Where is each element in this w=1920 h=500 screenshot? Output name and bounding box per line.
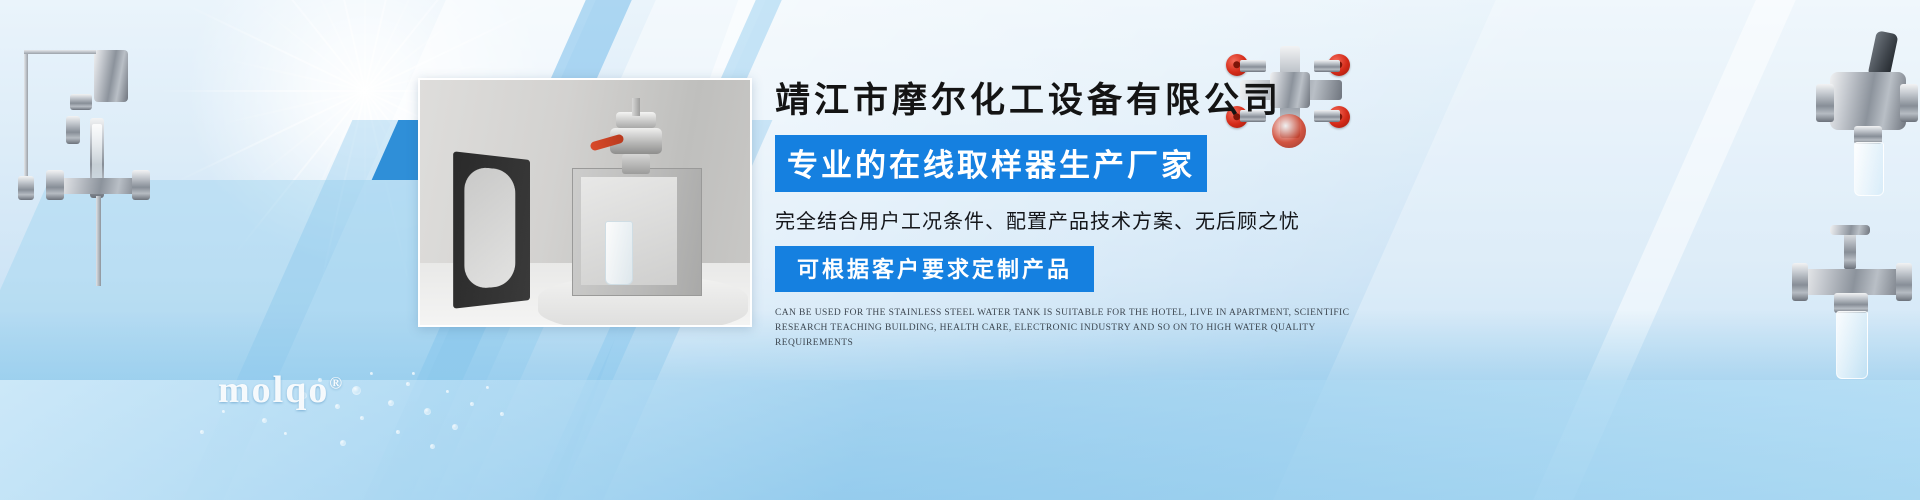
valve-top-handle: [1830, 225, 1870, 235]
description-text: 完全结合用户工况条件、配置产品技术方案、无后顾之忧: [775, 205, 1415, 234]
valve-main-body: [1830, 72, 1906, 130]
watermark-logo: molqo®: [218, 368, 344, 412]
product-banner: 靖江市摩尔化工设备有限公司 专业的在线取样器生产厂家 完全结合用户工况条件、配置…: [0, 0, 1920, 500]
water-droplet: [284, 432, 287, 435]
water-droplet: [200, 430, 204, 434]
support-valve: [18, 176, 34, 200]
support-pipe-top: [24, 50, 96, 54]
valve-port-left: [1816, 84, 1834, 122]
sampler-fitting-a: [70, 94, 92, 110]
sight-glass: [92, 124, 102, 186]
water-droplet: [412, 372, 415, 375]
water-droplet: [360, 416, 364, 420]
water-droplet: [396, 430, 400, 434]
water-droplet: [370, 372, 373, 375]
watermark-text: molqo: [218, 369, 329, 411]
water-droplet: [470, 402, 474, 406]
stand-post: [96, 196, 101, 286]
sampler-crossbar: [56, 178, 142, 194]
company-name: 靖江市摩尔化工设备有限公司: [775, 72, 1415, 123]
photo-sample-bottle: [605, 221, 633, 285]
valve-port-right: [1900, 84, 1918, 122]
water-droplet: [352, 386, 361, 395]
water-droplet: [452, 424, 458, 430]
sun-ray: [155, 90, 365, 92]
sampler-valve-right: [132, 170, 150, 200]
collection-bottle: [1854, 142, 1884, 196]
water-droplet: [446, 390, 449, 393]
sun-ray: [364, 0, 366, 91]
water-droplet: [500, 412, 504, 416]
registered-mark-icon: ®: [329, 373, 344, 392]
secondary-slogan: 可根据客户要求定制产品: [775, 246, 1094, 292]
water-droplet: [388, 400, 394, 406]
product-photo: [418, 78, 752, 327]
water-droplet: [486, 386, 489, 389]
water-droplet: [406, 382, 410, 386]
water-droplet: [430, 444, 435, 449]
photo-cabinet-interior: [581, 177, 677, 285]
valve-flange-right: [1896, 263, 1912, 301]
support-pipe-left: [24, 50, 28, 180]
water-droplet: [262, 418, 267, 423]
photo-valve-lower: [622, 154, 650, 174]
water-droplet: [340, 440, 346, 446]
angle-valve-body: [1812, 32, 1920, 202]
photo-valve-assembly: [596, 108, 674, 172]
photo-cabinet: [572, 168, 702, 296]
sampler-valve-left: [46, 170, 64, 200]
english-description: CAN BE USED FOR THE STAINLESS STEEL WATE…: [775, 306, 1375, 351]
photo-valve-stem: [632, 98, 640, 116]
sample-bottle: [1836, 311, 1868, 379]
manifold-arm-tl: [1240, 60, 1266, 72]
photo-cabinet-door: [453, 151, 530, 308]
water-droplet: [424, 408, 431, 415]
manifold-arm-tr: [1314, 60, 1340, 72]
valve-stem: [1844, 229, 1856, 269]
primary-slogan: 专业的在线取样器生产厂家: [775, 135, 1207, 192]
inline-sampling-valve: [1790, 225, 1920, 390]
sampler-valve-mid: [66, 116, 80, 144]
valve-flange-left: [1792, 263, 1808, 301]
valve-horizontal-body: [1800, 269, 1904, 295]
photo-door-window: [464, 166, 515, 290]
valve-lower-block: [1834, 293, 1868, 313]
banner-text-block: 靖江市摩尔化工设备有限公司 专业的在线取样器生产厂家 完全结合用户工况条件、配置…: [775, 72, 1415, 351]
sampler-housing: [94, 50, 128, 102]
sampler-assembly-with-stand: [10, 28, 160, 288]
